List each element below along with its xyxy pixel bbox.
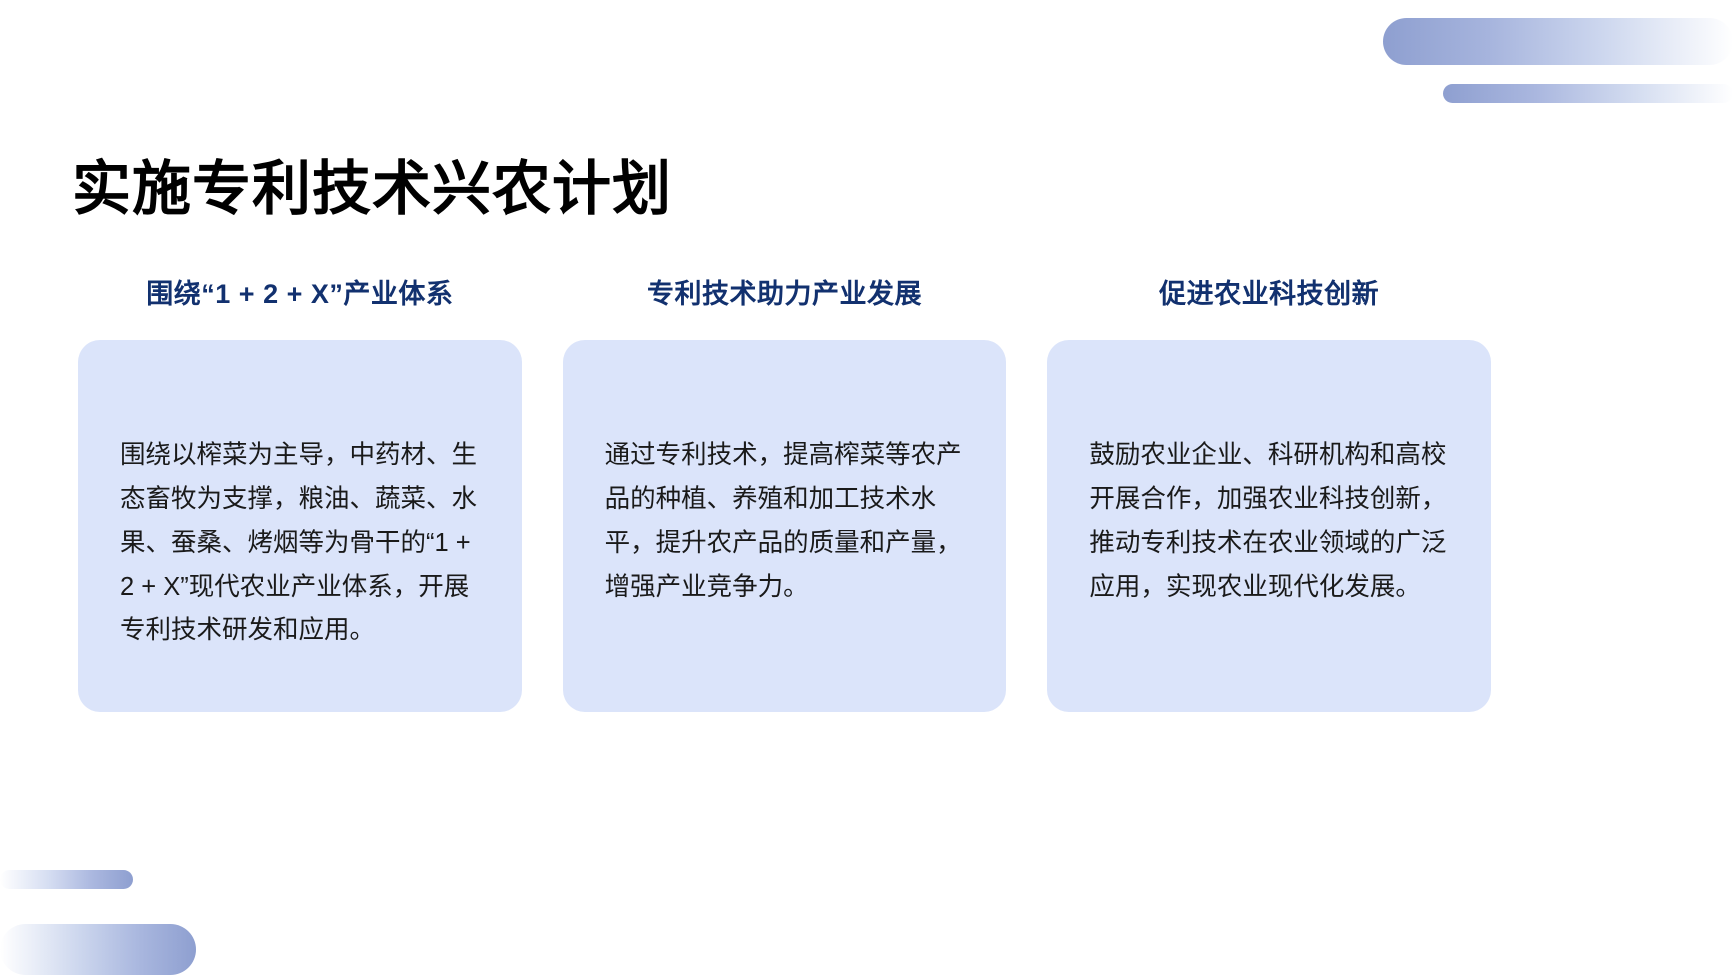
decor-bar-top-right-thin — [1443, 84, 1733, 103]
column-2-body-text: 通过专利技术，提高榨菜等农产品的种植、养殖和加工技术水平，提升农产品的质量和产量… — [605, 434, 964, 609]
decor-bar-bottom-left-thick — [0, 924, 196, 975]
column-3-heading: 促进农业科技创新 — [1047, 272, 1491, 340]
column-1-body-text: 围绕以榨菜为主导，中药材、生态畜牧为支撑，粮油、蔬菜、水果、蚕桑、烤烟等为骨干的… — [120, 434, 479, 653]
column-1: 围绕“1 + 2 + X”产业体系 围绕以榨菜为主导，中药材、生态畜牧为支撑，粮… — [78, 272, 522, 712]
column-1-card: 围绕以榨菜为主导，中药材、生态畜牧为支撑，粮油、蔬菜、水果、蚕桑、烤烟等为骨干的… — [78, 340, 522, 712]
column-2-card: 通过专利技术，提高榨菜等农产品的种植、养殖和加工技术水平，提升农产品的质量和产量… — [563, 340, 1007, 712]
column-2: 专利技术助力产业发展 通过专利技术，提高榨菜等农产品的种植、养殖和加工技术水平，… — [563, 272, 1007, 712]
column-2-heading: 专利技术助力产业发展 — [563, 272, 1007, 340]
content-columns: 围绕“1 + 2 + X”产业体系 围绕以榨菜为主导，中药材、生态畜牧为支撑，粮… — [78, 272, 1491, 712]
column-3: 促进农业科技创新 鼓励农业企业、科研机构和高校开展合作，加强农业科技创新，推动专… — [1047, 272, 1491, 712]
decor-bar-bottom-left-thin — [0, 870, 133, 889]
decor-bar-top-right-thick — [1383, 18, 1733, 65]
column-3-body-text: 鼓励农业企业、科研机构和高校开展合作，加强农业科技创新，推动专利技术在农业领域的… — [1089, 434, 1448, 609]
column-1-heading: 围绕“1 + 2 + X”产业体系 — [78, 272, 522, 340]
page-title: 实施专利技术兴农计划 — [72, 157, 672, 222]
slide-canvas: 实施专利技术兴农计划 围绕“1 + 2 + X”产业体系 围绕以榨菜为主导，中药… — [0, 0, 1733, 975]
column-3-card: 鼓励农业企业、科研机构和高校开展合作，加强农业科技创新，推动专利技术在农业领域的… — [1047, 340, 1491, 712]
